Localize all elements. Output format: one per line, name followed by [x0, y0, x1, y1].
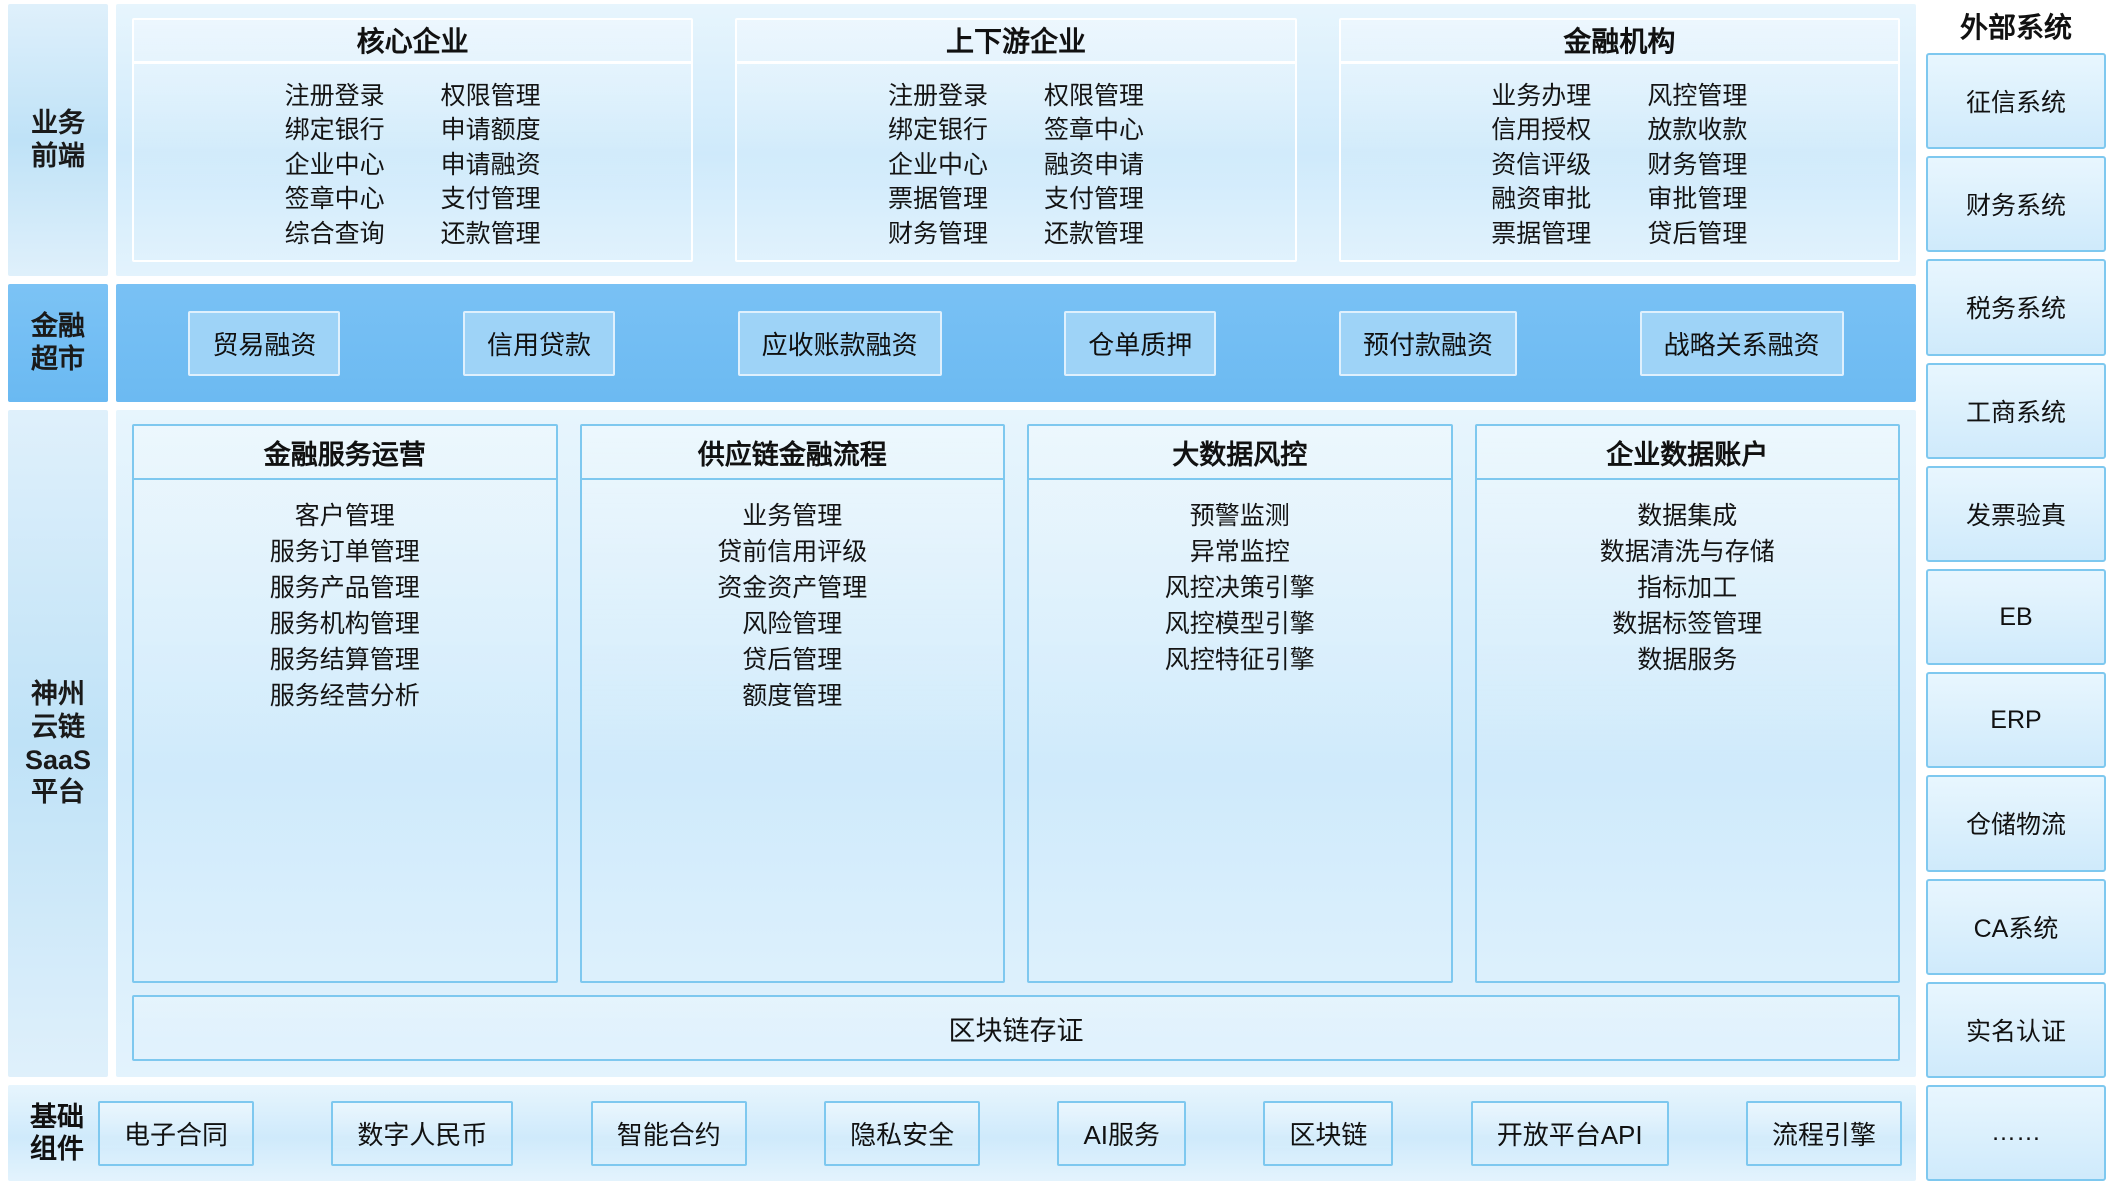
main-column: 业务前端 核心企业 注册登录 绑定银行 企业中心 签章中心 综合查询: [8, 4, 1916, 1181]
list-item: 贷后管理: [742, 644, 842, 677]
list-item: 数据标签管理: [1612, 608, 1762, 641]
list-item: 数据服务: [1637, 644, 1737, 677]
list-item: 注册登录: [888, 80, 988, 113]
band-label-base-components: 基础组件: [22, 1101, 84, 1166]
list-item: 数据清洗与存储: [1600, 536, 1775, 569]
list-item: 财务管理: [888, 218, 988, 251]
card-title: 企业数据账户: [1477, 426, 1899, 480]
list-item: 客户管理: [295, 500, 395, 533]
card-body: 业务办理 信用授权 资信评级 融资审批 票据管理 风控管理 放款收款 财务管理 …: [1341, 64, 1898, 261]
list-item: 风控特征引擎: [1165, 644, 1315, 677]
card-title: 金融机构: [1341, 20, 1898, 64]
sidebar-item-more[interactable]: ……: [1926, 1085, 2106, 1181]
list-item: 服务经营分析: [270, 680, 420, 713]
base-component-chip[interactable]: 隐私安全: [824, 1101, 980, 1166]
financial-product-chip[interactable]: 预付款融资: [1339, 311, 1517, 376]
list-item: 服务机构管理: [270, 608, 420, 641]
band-body-base-components: 基础组件 电子合同 数字人民币 智能合约 隐私安全 AI服务 区块链 开放平台A…: [8, 1085, 1916, 1181]
list-item: 预警监测: [1190, 500, 1290, 533]
architecture-diagram: 业务前端 核心企业 注册登录 绑定银行 企业中心 签章中心 综合查询: [0, 0, 2114, 1187]
band-financial-supermarket: 金融超市 贸易融资 信用贷款 应收账款融资 仓单质押 预付款融资 战略关系融资: [8, 284, 1916, 402]
card-title: 金融服务运营: [134, 426, 556, 480]
list-item: 服务产品管理: [270, 572, 420, 605]
card-title: 核心企业: [134, 20, 691, 64]
financial-product-chip[interactable]: 应收账款融资: [738, 311, 942, 376]
list-item: 支付管理: [441, 183, 541, 216]
card-body: 预警监测 异常监控 风控决策引擎 风控模型引擎 风控特征引擎: [1029, 480, 1451, 981]
list-item: 风控模型引擎: [1165, 608, 1315, 641]
list-item: 权限管理: [441, 80, 541, 113]
base-component-chip[interactable]: 数字人民币: [331, 1101, 513, 1166]
list-item: 风险管理: [742, 608, 842, 641]
list-item: 还款管理: [1044, 218, 1144, 251]
saas-card-big-data-risk-control[interactable]: 大数据风控 预警监测 异常监控 风控决策引擎 风控模型引擎 风控特征引擎: [1027, 424, 1453, 983]
list-item: 数据集成: [1637, 500, 1737, 533]
sidebar-item-credit-system[interactable]: 征信系统: [1926, 53, 2106, 149]
list-item: 资金资产管理: [717, 572, 867, 605]
frontend-card-group: 核心企业 注册登录 绑定银行 企业中心 签章中心 综合查询 权限管理: [132, 18, 1900, 262]
list-item: 业务办理: [1491, 80, 1591, 113]
card-title: 大数据风控: [1029, 426, 1451, 480]
band-body-financial-supermarket: 贸易融资 信用贷款 应收账款融资 仓单质押 预付款融资 战略关系融资: [116, 284, 1916, 402]
card-column-right: 权限管理 申请额度 申请融资 支付管理 还款管理: [441, 80, 541, 251]
band-label-saas-platform: 神州云链SaaS平台: [8, 410, 108, 1077]
card-body: 注册登录 绑定银行 企业中心 签章中心 综合查询 权限管理 申请额度 申请融资 …: [134, 64, 691, 261]
card-title: 供应链金融流程: [582, 426, 1004, 480]
list-item: 融资申请: [1044, 149, 1144, 182]
saas-card-enterprise-data-account[interactable]: 企业数据账户 数据集成 数据清洗与存储 指标加工 数据标签管理 数据服务: [1475, 424, 1901, 983]
list-item: 贷前信用评级: [717, 536, 867, 569]
base-component-chip[interactable]: 智能合约: [591, 1101, 747, 1166]
band-saas-platform: 神州云链SaaS平台 金融服务运营 客户管理 服务订单管理 服务产品管理 服务机…: [8, 410, 1916, 1077]
list-item: 签章中心: [1044, 114, 1144, 147]
sidebar-item-business-registration-system[interactable]: 工商系统: [1926, 363, 2106, 459]
card-title: 上下游企业: [737, 20, 1294, 64]
base-component-chip[interactable]: 区块链: [1263, 1101, 1393, 1166]
card-column-right: 权限管理 签章中心 融资申请 支付管理 还款管理: [1044, 80, 1144, 251]
frontend-card-financial-institution[interactable]: 金融机构 业务办理 信用授权 资信评级 融资审批 票据管理 风控管理: [1339, 18, 1900, 262]
band-base-components: 基础组件 电子合同 数字人民币 智能合约 隐私安全 AI服务 区块链 开放平台A…: [8, 1085, 1916, 1181]
list-item: 异常监控: [1190, 536, 1290, 569]
list-item: 支付管理: [1044, 183, 1144, 216]
sidebar-title: 外部系统: [1926, 6, 2106, 46]
list-item: 指标加工: [1637, 572, 1737, 605]
blockchain-evidence-bar[interactable]: 区块链存证: [132, 995, 1900, 1061]
list-item: 风控管理: [1647, 80, 1747, 113]
list-item: 风控决策引擎: [1165, 572, 1315, 605]
list-item: 额度管理: [742, 680, 842, 713]
list-item: 贷后管理: [1647, 218, 1747, 251]
financial-product-chip[interactable]: 战略关系融资: [1640, 311, 1844, 376]
base-component-chip[interactable]: AI服务: [1057, 1101, 1186, 1166]
card-column-left: 注册登录 绑定银行 企业中心 票据管理 财务管理: [888, 80, 988, 251]
financial-product-chip[interactable]: 贸易融资: [188, 311, 340, 376]
list-item: 审批管理: [1647, 183, 1747, 216]
band-label-business-frontend: 业务前端: [8, 4, 108, 276]
list-item: 业务管理: [742, 500, 842, 533]
list-item: 票据管理: [888, 183, 988, 216]
saas-card-financial-service-operation[interactable]: 金融服务运营 客户管理 服务订单管理 服务产品管理 服务机构管理 服务结算管理 …: [132, 424, 558, 983]
card-column-right: 风控管理 放款收款 财务管理 审批管理 贷后管理: [1647, 80, 1747, 251]
sidebar-item-tax-system[interactable]: 税务系统: [1926, 259, 2106, 355]
list-item: 放款收款: [1647, 114, 1747, 147]
list-item: 信用授权: [1491, 114, 1591, 147]
band-body-business-frontend: 核心企业 注册登录 绑定银行 企业中心 签章中心 综合查询 权限管理: [116, 4, 1916, 276]
band-body-saas-platform: 金融服务运营 客户管理 服务订单管理 服务产品管理 服务机构管理 服务结算管理 …: [116, 410, 1916, 1077]
list-item: 企业中心: [285, 149, 385, 182]
card-column-left: 业务办理 信用授权 资信评级 融资审批 票据管理: [1491, 80, 1591, 251]
list-item: 综合查询: [285, 218, 385, 251]
sidebar-item-real-name-authentication[interactable]: 实名认证: [1926, 982, 2106, 1078]
card-column-left: 注册登录 绑定银行 企业中心 签章中心 综合查询: [285, 80, 385, 251]
frontend-card-upstream-downstream[interactable]: 上下游企业 注册登录 绑定银行 企业中心 票据管理 财务管理 权限管理: [735, 18, 1296, 262]
list-item: 财务管理: [1647, 149, 1747, 182]
saas-card-supply-chain-finance-process[interactable]: 供应链金融流程 业务管理 贷前信用评级 资金资产管理 风险管理 贷后管理 额度管…: [580, 424, 1006, 983]
band-business-frontend: 业务前端 核心企业 注册登录 绑定银行 企业中心 签章中心 综合查询: [8, 4, 1916, 276]
list-item: 资信评级: [1491, 149, 1591, 182]
external-systems-sidebar: 外部系统 征信系统 财务系统 税务系统 工商系统 发票验真 EB ERP 仓储物…: [1926, 4, 2106, 1181]
sidebar-item-erp[interactable]: ERP: [1926, 672, 2106, 768]
list-item: 服务结算管理: [270, 644, 420, 677]
list-item: 注册登录: [285, 80, 385, 113]
sidebar-item-ca-system[interactable]: CA系统: [1926, 879, 2106, 975]
card-body: 客户管理 服务订单管理 服务产品管理 服务机构管理 服务结算管理 服务经营分析: [134, 480, 556, 981]
list-item: 绑定银行: [285, 114, 385, 147]
card-body: 注册登录 绑定银行 企业中心 票据管理 财务管理 权限管理 签章中心 融资申请 …: [737, 64, 1294, 261]
base-component-chip-group: 电子合同 数字人民币 智能合约 隐私安全 AI服务 区块链 开放平台API 流程…: [98, 1101, 1902, 1166]
list-item: 还款管理: [441, 218, 541, 251]
financial-product-chip-group: 贸易融资 信用贷款 应收账款融资 仓单质押 预付款融资 战略关系融资: [132, 311, 1900, 376]
frontend-card-core-enterprise[interactable]: 核心企业 注册登录 绑定银行 企业中心 签章中心 综合查询 权限管理: [132, 18, 693, 262]
list-item: 申请额度: [441, 114, 541, 147]
card-body: 数据集成 数据清洗与存储 指标加工 数据标签管理 数据服务: [1477, 480, 1899, 981]
sidebar-item-warehouse-logistics[interactable]: 仓储物流: [1926, 775, 2106, 871]
financial-product-chip[interactable]: 信用贷款: [463, 311, 615, 376]
sidebar-item-invoice-verification[interactable]: 发票验真: [1926, 466, 2106, 562]
base-component-chip[interactable]: 电子合同: [98, 1101, 254, 1166]
financial-product-chip[interactable]: 仓单质押: [1064, 311, 1216, 376]
list-item: 票据管理: [1491, 218, 1591, 251]
band-label-financial-supermarket: 金融超市: [8, 284, 108, 402]
list-item: 绑定银行: [888, 114, 988, 147]
list-item: 申请融资: [441, 149, 541, 182]
saas-card-group: 金融服务运营 客户管理 服务订单管理 服务产品管理 服务机构管理 服务结算管理 …: [132, 424, 1900, 983]
base-component-chip[interactable]: 流程引擎: [1746, 1101, 1902, 1166]
sidebar-item-finance-system[interactable]: 财务系统: [1926, 156, 2106, 252]
sidebar-item-eb[interactable]: EB: [1926, 569, 2106, 665]
list-item: 服务订单管理: [270, 536, 420, 569]
list-item: 融资审批: [1491, 183, 1591, 216]
base-component-chip[interactable]: 开放平台API: [1471, 1101, 1669, 1166]
list-item: 权限管理: [1044, 80, 1144, 113]
list-item: 企业中心: [888, 149, 988, 182]
card-body: 业务管理 贷前信用评级 资金资产管理 风险管理 贷后管理 额度管理: [582, 480, 1004, 981]
list-item: 签章中心: [285, 183, 385, 216]
